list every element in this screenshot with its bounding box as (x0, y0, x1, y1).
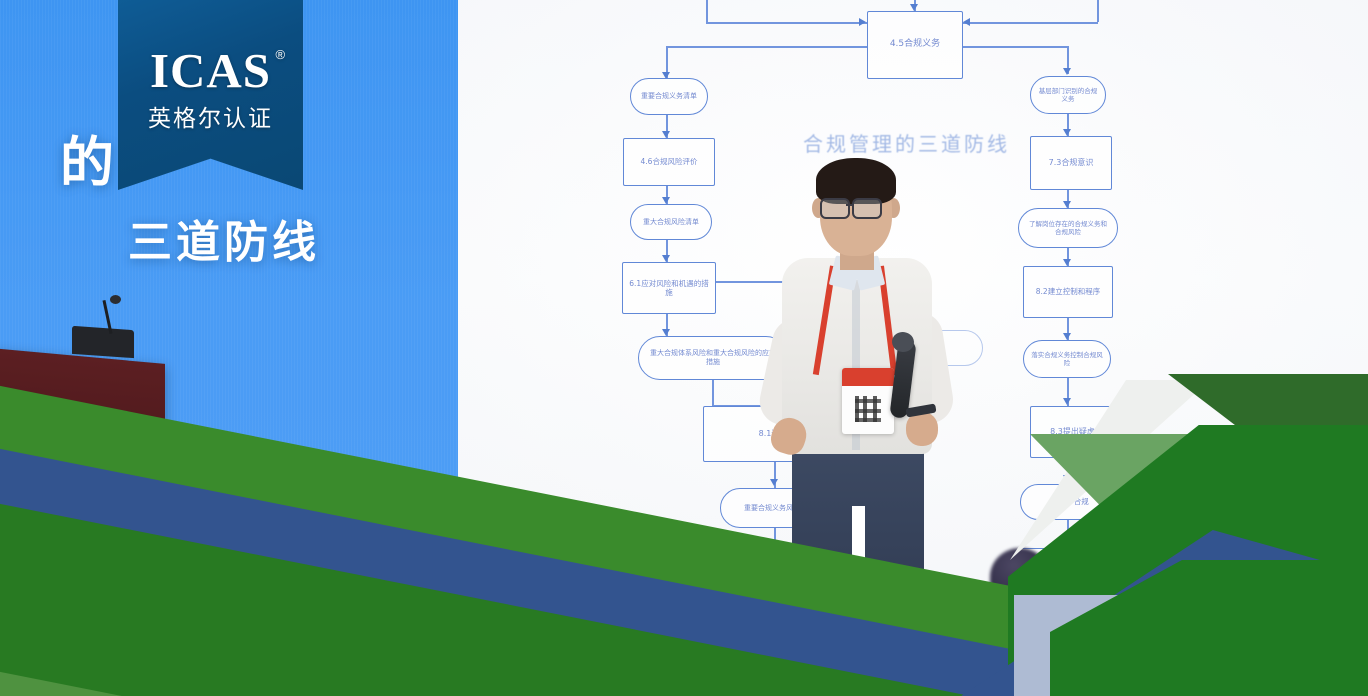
icas-wordmark-text: ICAS (150, 43, 271, 98)
flow-node-45: 4.5合规义务 (867, 11, 963, 79)
flow-node-82: 8.2建立控制和程序 (1023, 266, 1113, 318)
badge-header-bar (842, 368, 894, 386)
speaker-figure (760, 140, 1010, 610)
speaker-right-hand (906, 412, 938, 446)
podium-microphone-head (110, 295, 121, 304)
flow-line-top-left-v (706, 0, 708, 22)
flow-line-l5-v (712, 380, 714, 406)
flow-node-dept-obligations: 基层部门识别的合规义务 (1030, 76, 1106, 114)
flow-line-top-left-h (706, 22, 867, 24)
flow-arrow-into-45-left (859, 18, 866, 26)
flow-node-61: 6.1应对风险和机遇的措施 (622, 262, 716, 314)
podium-top-panel (72, 326, 134, 358)
flow-arrow-45-top (910, 4, 918, 11)
icas-subtitle: 英格尔认证 (118, 99, 303, 133)
flow-arrow-r4 (1063, 333, 1071, 340)
flow-node-46: 4.6合规风险评价 (623, 138, 715, 186)
flow-line-branch-left-h (666, 46, 867, 48)
flow-line-branch-right-h (963, 46, 1068, 48)
flow-node-know-post-obligations: 了解岗位存在的合规义务和合规风险 (1018, 208, 1118, 248)
eyeglasses-bridge (846, 204, 852, 206)
flow-arrow-l1 (662, 131, 670, 138)
flow-node-major-risk-list: 重大合规风险清单 (630, 204, 712, 240)
flow-node-73: 7.3合规意识 (1030, 136, 1112, 190)
flow-arrow-r1 (1063, 129, 1071, 136)
speaker-name-badge (842, 368, 894, 434)
flow-node-important-obligation-list: 重要合规义务清单 (630, 78, 708, 115)
flow-arrow-r2 (1063, 201, 1071, 208)
flow-arrow-l2 (662, 197, 670, 204)
flow-line-top-right-v (1097, 0, 1099, 22)
flow-node-implement-control: 落实合规义务控制合规风险 (1023, 340, 1111, 378)
stage-photo: 的 三道防线 ICAS ® 英格尔认证 合规管理的三道防线 4.5合规义务 (0, 0, 1368, 696)
registered-trademark-icon: ® (275, 48, 286, 61)
flow-arrow-l3 (662, 255, 670, 262)
eyeglasses-left-lens (820, 198, 850, 219)
qr-code-icon (855, 396, 881, 422)
flow-line-top-right-h (963, 22, 1098, 24)
flow-arrow-branch-right (1063, 68, 1071, 75)
flow-arrow-l4 (662, 329, 670, 336)
flow-arrow-r5 (1063, 398, 1071, 405)
flow-arrow-into-45-right (963, 18, 970, 26)
flow-arrow-r3 (1063, 259, 1071, 266)
eyeglasses-right-lens (852, 198, 882, 219)
icas-wordmark: ICAS ® (150, 46, 271, 95)
